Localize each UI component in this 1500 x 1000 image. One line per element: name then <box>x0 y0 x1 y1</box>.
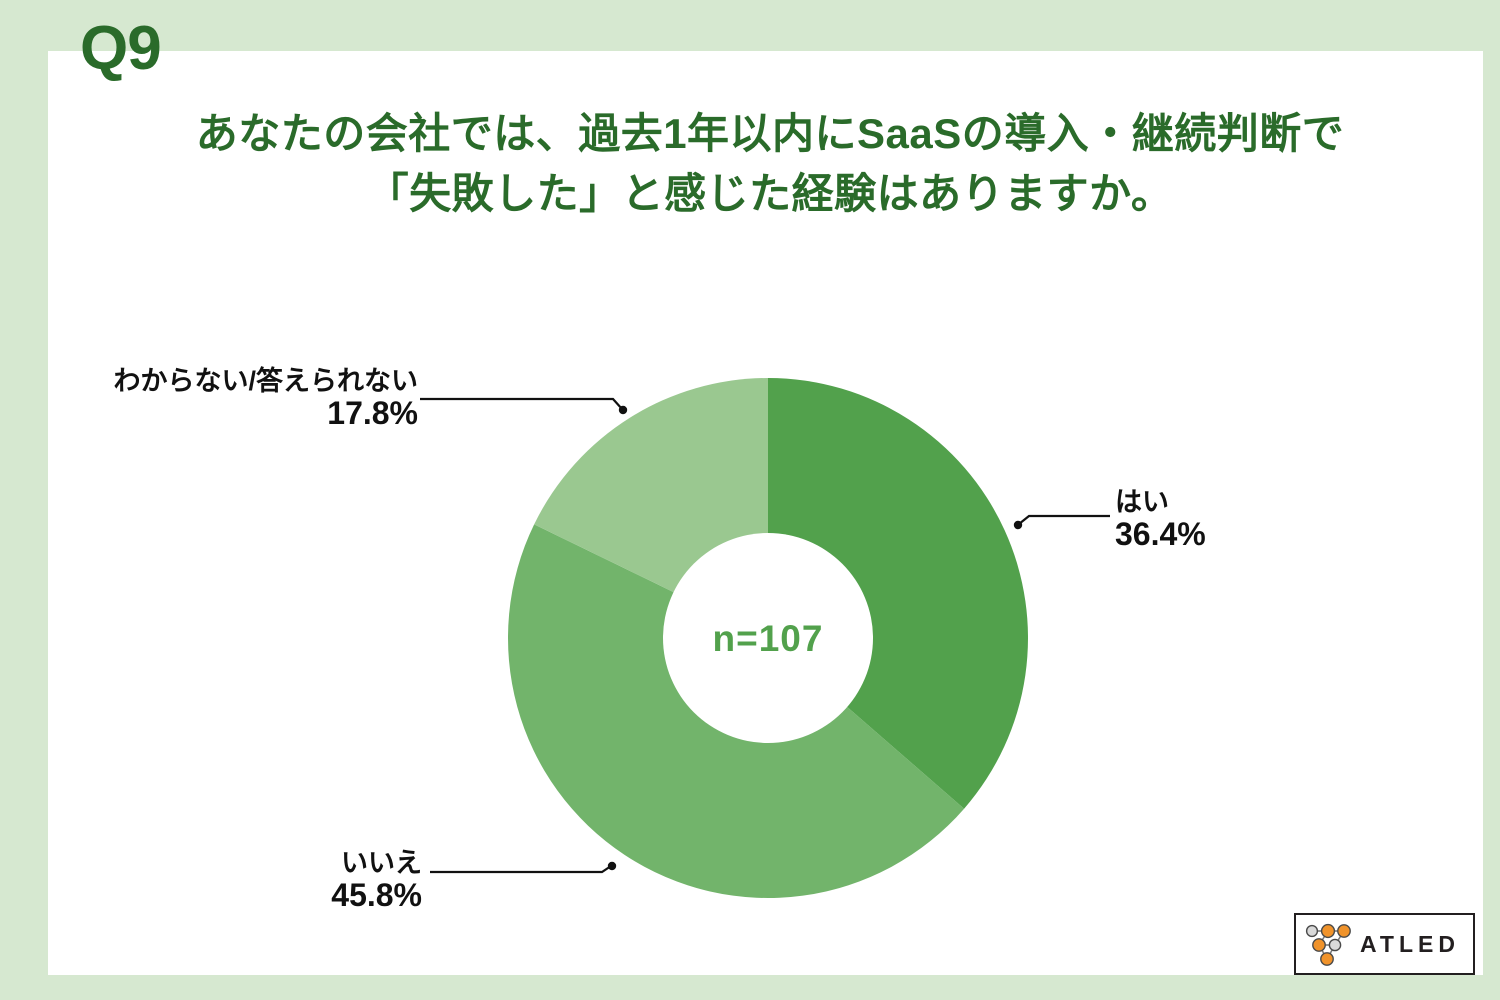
atled-logo: ATLED <box>1294 913 1475 975</box>
slice-label-no-name: いいえ <box>322 848 422 878</box>
leader-dot-unknown <box>619 406 627 414</box>
leader-dot-no <box>608 862 616 870</box>
slice-label-yes: はい 36.4% <box>1115 487 1206 553</box>
leader-dot-yes <box>1014 521 1022 529</box>
question-title-line-1: あなたの会社では、過去1年以内にSaaSの導入・継続判断で <box>110 104 1430 164</box>
slice-label-no-value: 45.8% <box>322 878 422 914</box>
sample-size-label: n=107 <box>668 618 868 660</box>
atled-network-mark <box>1302 920 1354 968</box>
slice-label-unknown: わからない/答えられない 17.8% <box>88 366 418 432</box>
atled-logo-text: ATLED <box>1360 931 1460 958</box>
slice-label-yes-value: 36.4% <box>1115 517 1206 553</box>
leader-line-no <box>430 866 611 872</box>
leader-line-unknown <box>420 399 622 409</box>
slice-label-unknown-value: 17.8% <box>88 396 418 432</box>
slice-label-unknown-name: わからない/答えられない <box>88 366 418 396</box>
slice-label-yes-name: はい <box>1115 487 1206 517</box>
leader-line-yes <box>1019 516 1110 524</box>
question-title: あなたの会社では、過去1年以内にSaaSの導入・継続判断で 「失敗した」と感じた… <box>110 104 1430 223</box>
slice-label-no: いいえ 45.8% <box>322 848 422 914</box>
question-title-line-2: 「失敗した」と感じた経験はありますか。 <box>110 164 1430 224</box>
question-number: Q9 <box>80 18 161 80</box>
